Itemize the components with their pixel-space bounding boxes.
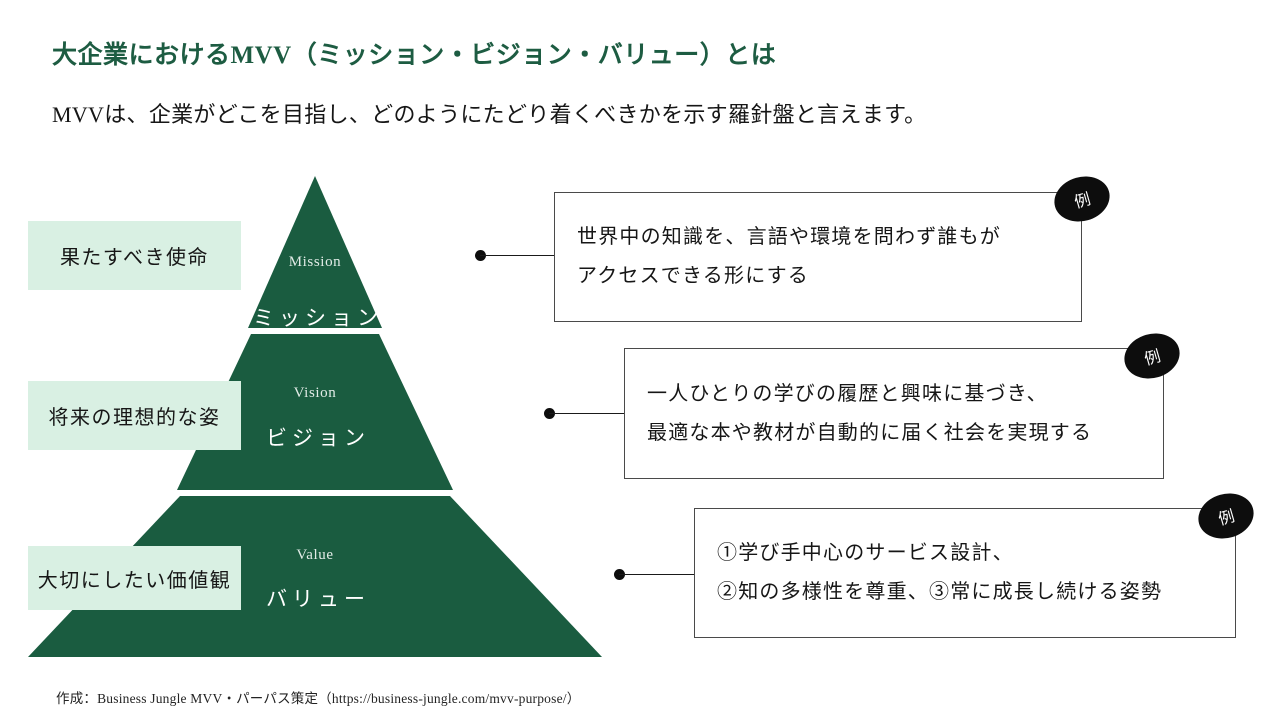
connector-line-vision	[549, 413, 625, 414]
side-label-vision-text: 将来の理想的な姿	[49, 401, 221, 430]
tier-label-jp-value: バリュー	[266, 583, 370, 613]
tier-label-en-vision: Vision	[294, 385, 337, 402]
tier-label-en-mission: Mission	[289, 254, 342, 271]
example-badge-value-text: 例	[1215, 502, 1237, 529]
callout-value-line-2: ②知の多様性を尊重、③常に成長し続ける姿勢	[717, 573, 1213, 612]
tier-label-en-value: Value	[296, 547, 333, 564]
tier-label-jp-vision: ビジョン	[266, 422, 370, 452]
side-label-mission: 果たすべき使命	[28, 221, 241, 290]
page-subtitle: MVVは、企業がどこを目指し、どのようにたどり着くべきかを示す羅針盤と言えます。	[52, 97, 926, 129]
callout-box-vision: 一人ひとりの学びの履歴と興味に基づき、 最適な本や教材が自動的に届く社会を実現す…	[624, 348, 1164, 479]
callout-box-mission: 世界中の知識を、言語や環境を問わず誰もが アクセスできる形にする	[554, 192, 1082, 322]
callout-value-line-1: ①学び手中心のサービス設計、	[717, 534, 1213, 573]
page-title: 大企業におけるMVV（ミッション・ビジョン・バリュー）とは	[52, 35, 776, 71]
callout-mission-line-1: 世界中の知識を、言語や環境を問わず誰もが	[577, 218, 1059, 257]
side-label-vision: 将来の理想的な姿	[28, 381, 241, 450]
tier-label-jp-mission: ミッション	[253, 302, 383, 332]
side-label-value-text: 大切にしたい価値観	[38, 564, 232, 593]
connector-line-value	[619, 574, 695, 575]
source-credit: 作成：Business Jungle MVV・パーパス策定（https://bu…	[56, 687, 580, 707]
callout-vision-line-2: 最適な本や教材が自動的に届く社会を実現する	[647, 414, 1141, 453]
side-label-mission-text: 果たすべき使命	[60, 241, 209, 270]
example-badge-vision-text: 例	[1141, 342, 1163, 369]
callout-box-value: ①学び手中心のサービス設計、 ②知の多様性を尊重、③常に成長し続ける姿勢	[694, 508, 1236, 638]
callout-vision-line-1: 一人ひとりの学びの履歴と興味に基づき、	[647, 375, 1141, 414]
example-badge-mission-text: 例	[1071, 185, 1093, 212]
side-label-value: 大切にしたい価値観	[28, 546, 241, 610]
callout-mission-line-2: アクセスできる形にする	[577, 257, 1059, 296]
connector-line-mission	[480, 255, 555, 256]
